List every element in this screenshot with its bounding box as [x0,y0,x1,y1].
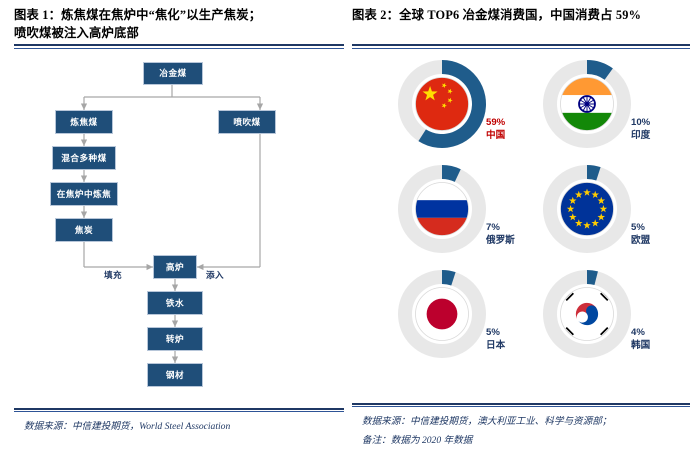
left-panel: 图表 1：炼焦煤在焦炉中“焦化”以生产焦炭； 喷吹煤被注入高炉底部 [14,0,344,456]
left-panel-source-note: 数据来源：中信建投期货，World Steel Association [24,418,230,435]
donut-chart-俄罗斯 [392,159,492,259]
flow-node-blend-coals[interactable]: 混合多种煤 [52,146,116,170]
flow-edge-label-charge: 填充 [104,269,122,281]
right-panel-title-block: 图表 2：全球 TOP6 冶金煤消费国，中国消费占 59% [352,6,690,24]
flow-node-coking-coal[interactable]: 炼焦煤 [55,110,113,134]
left-panel-title-block: 图表 1：炼焦煤在焦炉中“焦化”以生产焦炭； 喷吹煤被注入高炉底部 [14,6,344,42]
divider-thin-line [352,406,690,407]
donut-country-中国: 中国 [486,129,505,142]
figure-page: 图表 1：炼焦煤在焦炉中“焦化”以生产焦炭； 喷吹煤被注入高炉底部 [0,0,700,456]
donut-label-欧盟: 5%欧盟 [631,221,650,247]
right-panel-bottom-divider [352,403,690,407]
left-panel-bottom-divider [14,408,344,412]
donut-cell-印度[interactable]: 10%印度 [535,54,670,164]
divider-thick-line [14,44,344,46]
donut-chart-欧盟 [537,159,637,259]
donut-label-俄罗斯: 7%俄罗斯 [486,221,515,247]
right-panel-source-note: 数据来源：中信建投期货，澳大利亚工业、科学与资源部； [362,413,611,430]
donut-label-日本: 5%日本 [486,326,505,352]
left-panel-top-divider [14,44,344,49]
figure1-title-line2: 喷吹煤被注入高炉底部 [14,24,344,42]
donut-chart-中国 [392,54,492,154]
donut-chart-印度 [537,54,637,154]
donut-percent-印度: 10% [631,116,650,129]
flow-node-metallurgical-coal[interactable]: 冶金煤 [143,62,203,85]
top6-consumers-donut-grid: 59%中国10%印度7%俄罗斯5%欧盟5%日本4%韩国 [390,54,660,394]
divider-thick-line [14,408,344,410]
donut-cell-欧盟[interactable]: 5%欧盟 [535,159,670,269]
flow-edge-label-inject: 添入 [206,269,224,281]
coal-to-steel-flowchart: 冶金煤 炼焦煤 喷吹煤 混合多种煤 在焦炉中炼焦 焦炭 高炉 铁水 转炉 钢材 … [14,52,344,397]
flow-node-pci-coal[interactable]: 喷吹煤 [218,110,276,134]
flow-node-blast-furnace[interactable]: 高炉 [153,255,197,279]
donut-percent-中国: 59% [486,116,505,129]
donut-country-韩国: 韩国 [631,339,650,352]
donut-label-中国: 59%中国 [486,116,505,142]
donut-chart-韩国 [537,264,637,364]
donut-country-印度: 印度 [631,129,650,142]
donut-percent-俄罗斯: 7% [486,221,515,234]
divider-thick-line [352,403,690,405]
flow-node-coke-in-oven[interactable]: 在焦炉中炼焦 [50,182,118,206]
donut-cell-日本[interactable]: 5%日本 [390,264,525,374]
donut-cell-中国[interactable]: 59%中国 [390,54,525,164]
right-panel-remark-note: 备注：数据为 2020 年数据 [362,432,472,449]
flow-node-coke[interactable]: 焦炭 [55,218,113,242]
right-panel-top-divider [352,44,690,49]
divider-thin-line [14,48,344,49]
donut-label-印度: 10%印度 [631,116,650,142]
figure2-title: 图表 2：全球 TOP6 冶金煤消费国，中国消费占 59% [352,6,690,24]
donut-cell-韩国[interactable]: 4%韩国 [535,264,670,374]
donut-cell-俄罗斯[interactable]: 7%俄罗斯 [390,159,525,269]
divider-thin-line [14,411,344,412]
donut-label-韩国: 4%韩国 [631,326,650,352]
donut-percent-日本: 5% [486,326,505,339]
divider-thick-line [352,44,690,46]
donut-country-欧盟: 欧盟 [631,234,650,247]
flow-node-hot-metal[interactable]: 铁水 [147,291,203,315]
donut-chart-日本 [392,264,492,364]
right-panel: 图表 2：全球 TOP6 冶金煤消费国，中国消费占 59% 59%中国10%印度… [352,0,690,456]
donut-country-日本: 日本 [486,339,505,352]
figure1-title-line1: 图表 1：炼焦煤在焦炉中“焦化”以生产焦炭； [14,6,344,24]
donut-country-俄罗斯: 俄罗斯 [486,234,515,247]
divider-thin-line [352,48,690,49]
donut-percent-欧盟: 5% [631,221,650,234]
flow-node-steel[interactable]: 钢材 [147,363,203,387]
flow-node-converter[interactable]: 转炉 [147,327,203,351]
donut-percent-韩国: 4% [631,326,650,339]
